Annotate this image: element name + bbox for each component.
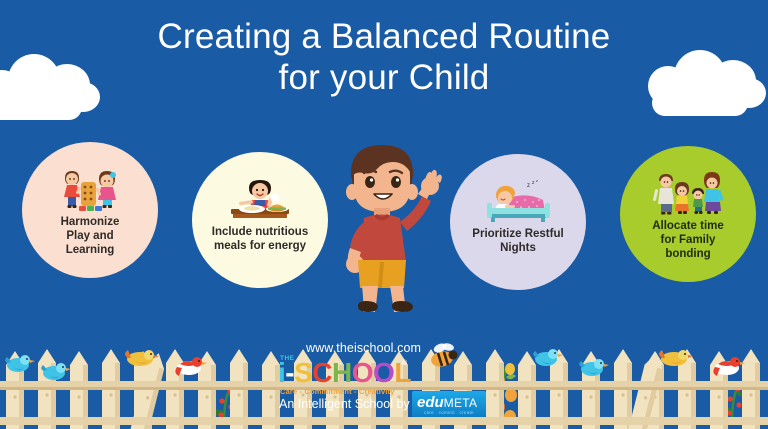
registered-mark: ® — [402, 360, 407, 367]
school-logo-block[interactable]: www.theischool.com THE i-SCHOOL ® Care -… — [276, 341, 492, 421]
banner-root: Creating a Balanced Routine for your Chi… — [0, 0, 768, 429]
edumeta-wordmark: eduMETA — [417, 395, 477, 411]
website-url[interactable]: www.theischool.com — [306, 341, 421, 355]
logo-ischool-wordmark: i-SCHOOL — [278, 359, 411, 387]
child-sleeping-bed-icon: z z z — [479, 178, 557, 224]
edumeta-edu-text: edu — [417, 394, 444, 411]
svg-text:z: z — [532, 180, 535, 186]
card-harmonize-play-and-learning[interactable]: Harmonize Play and Learning — [22, 142, 158, 278]
page-title: Creating a Balanced Routine for your Chi… — [0, 16, 768, 99]
kids-playing-blocks-icon — [51, 166, 129, 212]
title-line-1: Creating a Balanced Routine — [0, 16, 768, 57]
edumeta-badge[interactable]: eduMETA care . commit . create — [412, 391, 486, 417]
title-line-2: for your Child — [0, 57, 768, 98]
logo-letter-s: S — [294, 359, 312, 387]
logo-letter-c: C — [312, 359, 332, 387]
svg-text:z: z — [527, 183, 530, 189]
card-label: Prioritize Restful Nights — [464, 227, 571, 255]
svg-text:z: z — [536, 178, 538, 183]
logo-letter-o1: O — [352, 359, 373, 387]
bird-icon — [5, 355, 35, 372]
logo-letter-i: i — [278, 359, 285, 387]
waving-boy-illustration — [330, 136, 448, 312]
logo-letter-h: H — [332, 359, 352, 387]
card-allocate-time-family-bonding[interactable]: Allocate time for Family bonding — [620, 146, 756, 282]
child-eating-meal-icon — [221, 176, 299, 222]
card-label: Harmonize Play and Learning — [53, 215, 128, 257]
card-label: Allocate time for Family bonding — [644, 219, 732, 261]
card-prioritize-restful-nights[interactable]: z z z — [450, 154, 586, 290]
family-group-icon — [649, 170, 727, 216]
bee-icon — [426, 343, 460, 369]
logo-letter-dash: - — [285, 359, 294, 387]
logo-letter-o2: O — [373, 359, 394, 387]
logo-subline: An Intelligent School by — [279, 397, 410, 411]
card-label: Include nutritious meals for energy — [204, 225, 316, 253]
card-include-nutritious-meals[interactable]: Include nutritious meals for energy — [192, 152, 328, 288]
logo-tagline: Care - Commitment - Creativity — [280, 387, 395, 396]
edumeta-subtext: care . commit . create — [424, 410, 474, 415]
edumeta-meta-text: META — [444, 396, 478, 410]
